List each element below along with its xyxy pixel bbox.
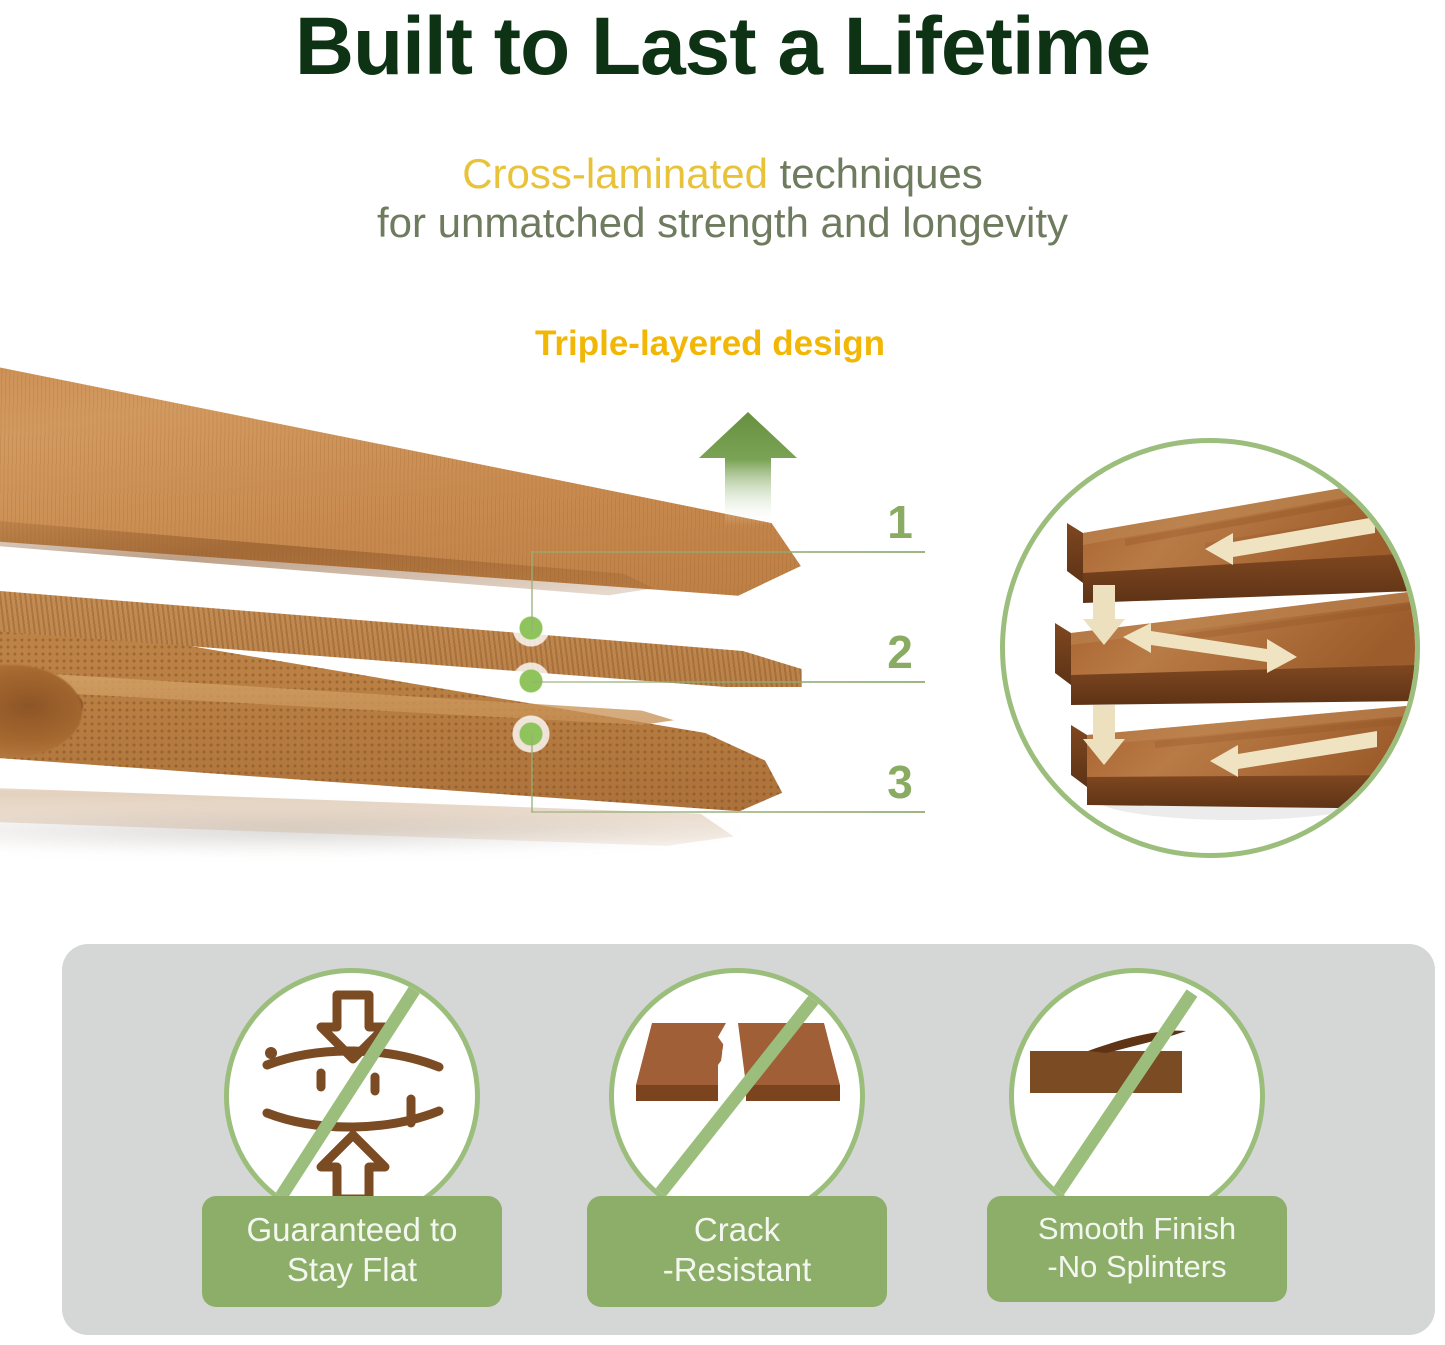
- subtitle-highlight: Cross-laminated: [462, 150, 768, 197]
- features-panel: Guaranteed to Stay Flat Crack -Resistant: [62, 944, 1435, 1335]
- feature-label-crack-resistant: Crack -Resistant: [587, 1196, 887, 1307]
- layer-number-1: 1: [870, 495, 930, 549]
- triple-layered-label: Triple-layered design: [430, 324, 990, 364]
- subtitle-line-2: for unmatched strength and longevity: [0, 197, 1445, 248]
- subtitle-line-1: Cross-laminated techniques: [0, 148, 1445, 199]
- wood-layer-bottom: [1071, 705, 1417, 809]
- page-title: Built to Last a Lifetime: [0, 4, 1445, 90]
- layer-number-2: 2: [870, 625, 930, 679]
- no-splinter-icon: [1009, 968, 1265, 1224]
- wood-layer-top: [1067, 475, 1417, 603]
- feature-label-stay-flat: Guaranteed to Stay Flat: [202, 1196, 502, 1307]
- header: Built to Last a Lifetime Cross-laminated…: [0, 0, 1445, 280]
- layer-number-3: 3: [870, 755, 930, 809]
- cross-lamination-diagram: [1000, 438, 1420, 858]
- subtitle-rest: techniques: [768, 150, 983, 197]
- up-arrow-icon: [693, 408, 803, 528]
- no-crack-icon: [609, 968, 865, 1224]
- product-illustration-stage: Triple-layered design 1 2 3: [0, 280, 1445, 940]
- feature-card-smooth-finish: Smooth Finish -No Splinters: [987, 968, 1287, 1308]
- feature-card-crack-resistant: Crack -Resistant: [587, 968, 887, 1308]
- feature-card-stay-flat: Guaranteed to Stay Flat: [202, 968, 502, 1308]
- feature-label-smooth-finish: Smooth Finish -No Splinters: [987, 1196, 1287, 1302]
- no-warp-icon: [224, 968, 480, 1224]
